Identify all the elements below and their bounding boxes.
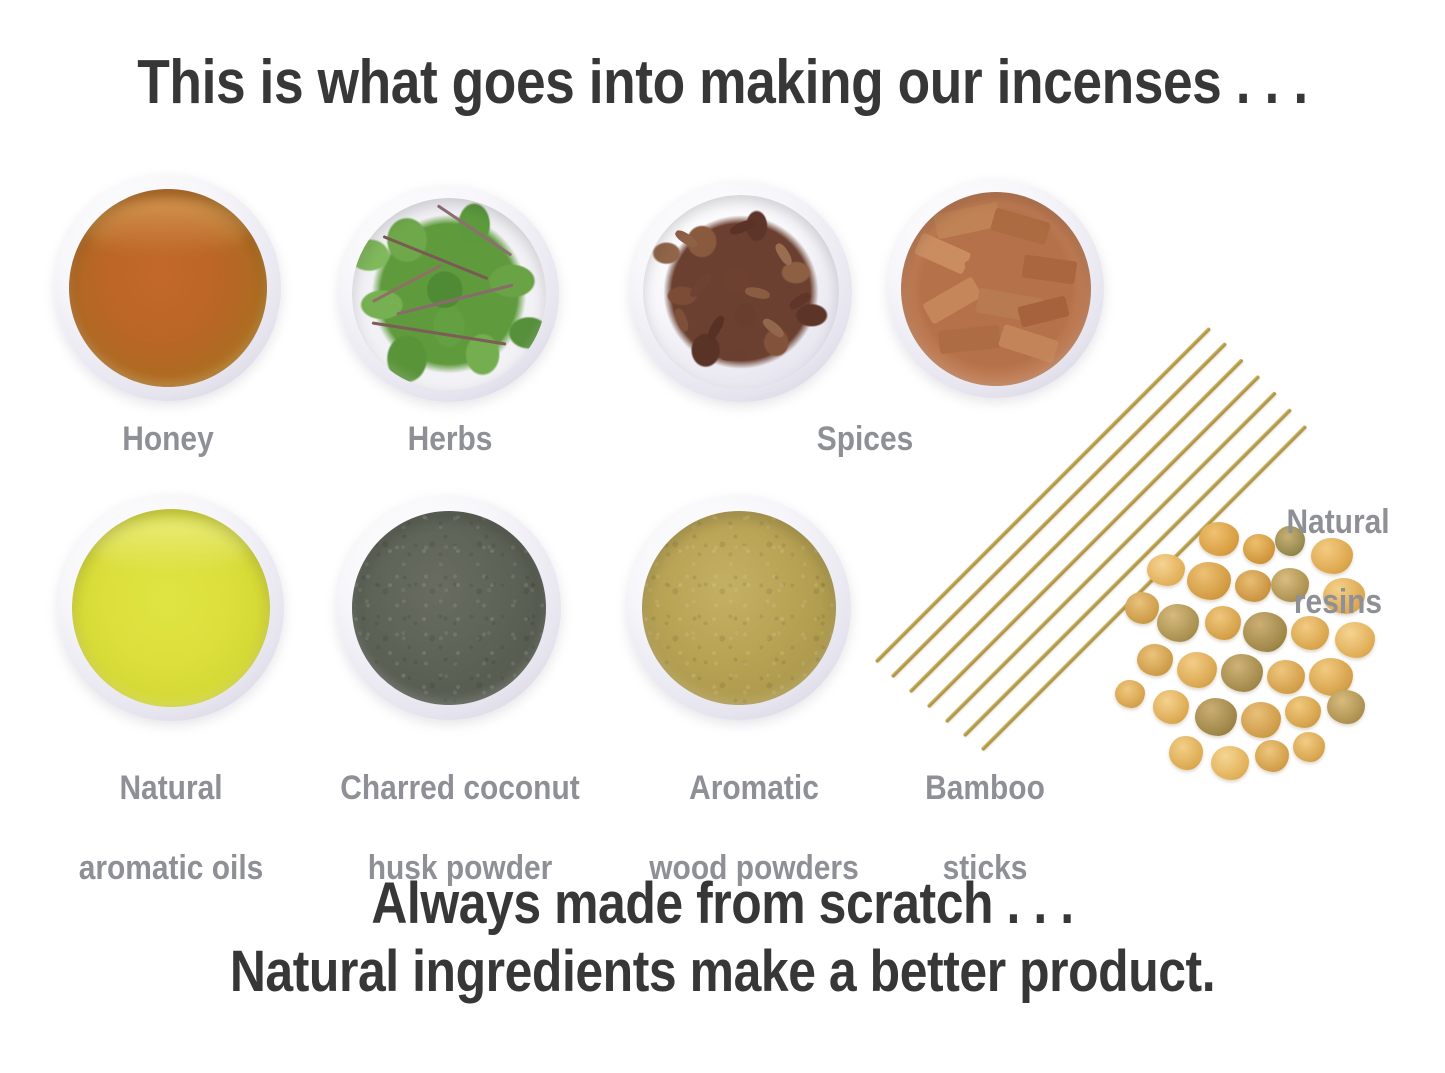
ingredient-bowl-natural-aromatic-oils [58, 495, 284, 721]
footer-line-2: Natural ingredients make a better produc… [101, 940, 1344, 1004]
resin-chunk [1125, 592, 1159, 624]
resin-chunk [1153, 690, 1189, 724]
label-line-1: Natural [56, 768, 287, 808]
resin-chunk [1115, 680, 1145, 708]
ingredient-label-natural-resins: Natural resins [1252, 462, 1424, 662]
aromatic-wood-powders-fill [642, 511, 836, 705]
label-line-1: Natural [1252, 502, 1424, 542]
powder-grain-texture [642, 511, 836, 705]
resin-chunk [1241, 702, 1281, 738]
resin-chunk [1211, 746, 1249, 780]
clove-piece [774, 242, 795, 267]
clove-piece [744, 286, 771, 301]
ingredient-bowl-spices [630, 182, 852, 402]
resin-chunk [1199, 522, 1239, 556]
resin-chunk [1177, 652, 1217, 688]
clove-piece [721, 348, 751, 362]
ingredient-bowl-honey [55, 175, 281, 401]
herbs-fill [352, 198, 546, 390]
resin-chunk [1137, 644, 1173, 676]
ingredient-bowl-charred-coconut-husk-powder [337, 496, 561, 720]
label-line-1: Aromatic [626, 768, 883, 808]
resin-chunk [1327, 690, 1365, 724]
page-title: This is what goes into making our incens… [101, 48, 1344, 118]
ingredient-label-herbs: Herbs [336, 420, 565, 458]
ingredient-bowl-herbs [339, 186, 559, 402]
honey-fill [69, 189, 267, 387]
resin-chunk [1187, 562, 1231, 600]
resin-chunk [1147, 554, 1185, 586]
footer-line-1: Always made from scratch . . . [101, 872, 1344, 936]
resin-chunk [1195, 698, 1237, 736]
cloves-fill [643, 195, 839, 389]
ingredient-label-honey: Honey [54, 420, 283, 458]
powder-grain-texture [352, 511, 546, 705]
resin-chunk [1205, 606, 1241, 640]
clove-piece [787, 290, 812, 311]
resin-chunk [1157, 604, 1199, 642]
resin-chunk [1267, 660, 1305, 694]
resin-chunk [1169, 736, 1203, 770]
clove-piece [728, 217, 757, 236]
label-line-2: resins [1252, 582, 1424, 622]
clove-piece [674, 228, 701, 250]
natural-aromatic-oils-fill [72, 509, 270, 707]
clove-piece [674, 307, 691, 332]
resin-chunk [1293, 732, 1325, 762]
ingredient-bowl-aromatic-wood-powders [627, 496, 851, 720]
charred-coconut-husk-powder-fill [352, 511, 546, 705]
resin-chunk [1285, 696, 1321, 728]
label-line-1: Bamboo [897, 768, 1073, 808]
label-line-1: Charred coconut [328, 768, 592, 808]
clove-piece [687, 271, 714, 299]
resin-chunk [1255, 740, 1289, 772]
clove-piece [705, 313, 726, 342]
clove-piece [760, 316, 786, 340]
